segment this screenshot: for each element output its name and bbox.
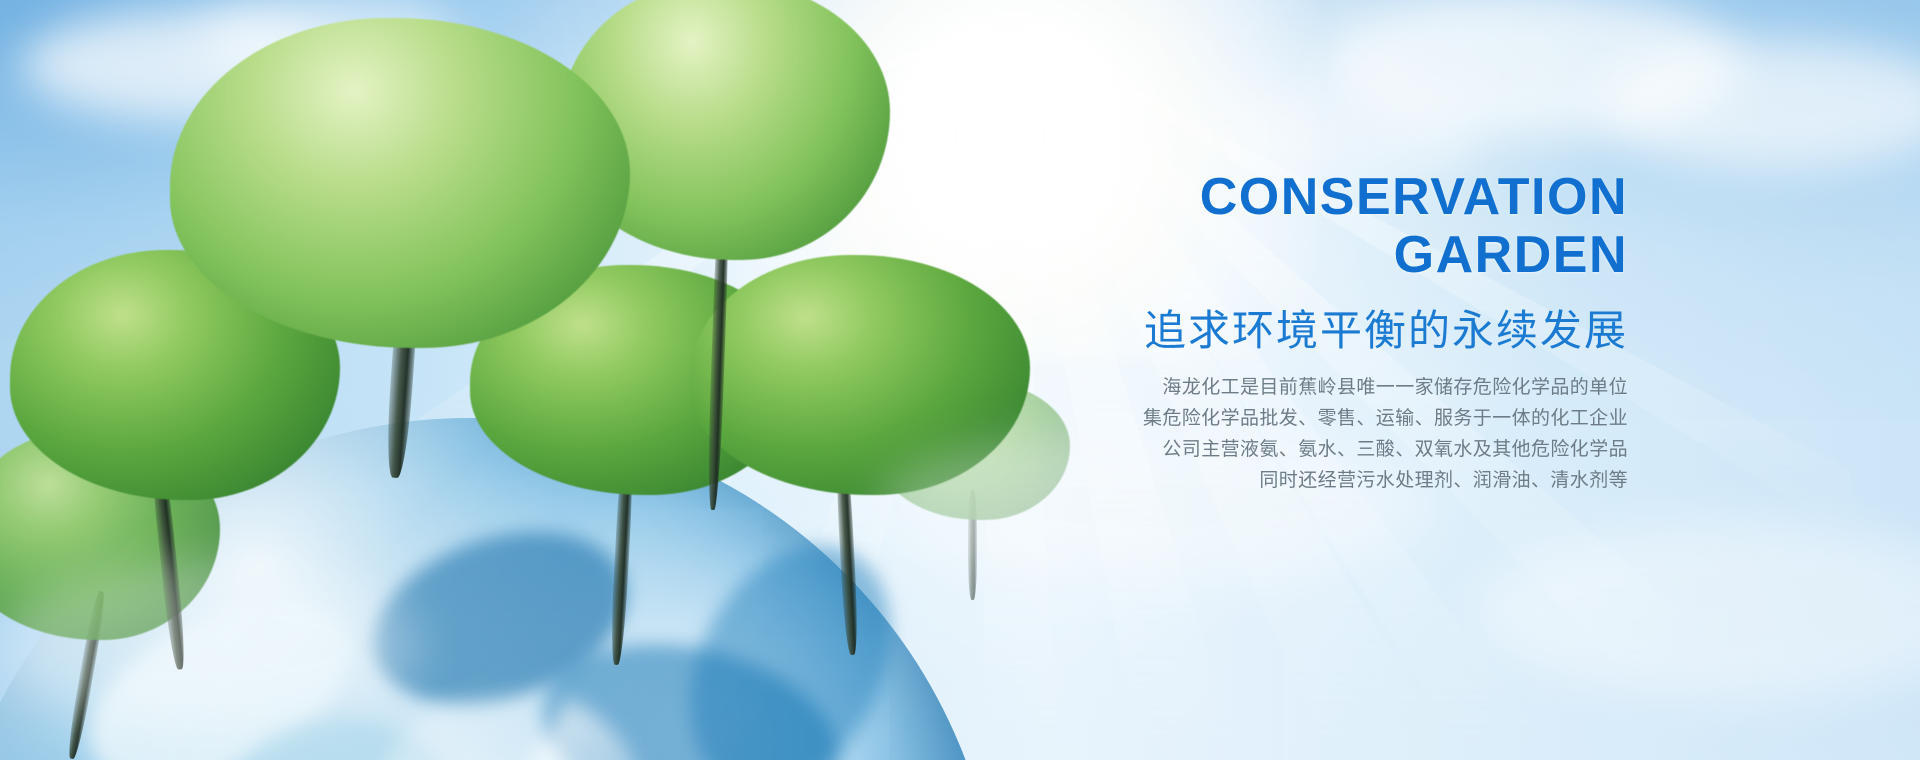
cloud-shape: [0, 560, 420, 730]
description-line: 集危险化学品批发、零售、运输、服务于一体的化工企业: [908, 403, 1628, 434]
description-line: 公司主营液氨、氨水、三酸、双氧水及其他危险化学品: [908, 434, 1628, 465]
headline-line-2: GARDEN: [908, 226, 1628, 284]
description-line: 海龙化工是目前蕉岭县唯一一家储存危险化学品的单位: [908, 372, 1628, 403]
description-line: 同时还经营污水处理剂、润滑油、清水剂等: [908, 465, 1628, 496]
headline-line-1: CONSERVATION: [1200, 168, 1628, 226]
banner-copy: CONSERVATION GARDEN 追求环境平衡的永续发展 海龙化工是目前蕉…: [908, 168, 1628, 496]
banner-tagline: 追求环境平衡的永续发展: [908, 306, 1628, 356]
hero-banner: CONSERVATION GARDEN 追求环境平衡的永续发展 海龙化工是目前蕉…: [0, 0, 1920, 760]
tree-hero: [170, 18, 630, 448]
tree-canopy: [170, 18, 630, 348]
banner-headline: CONSERVATION GARDEN: [908, 168, 1628, 284]
banner-description: 海龙化工是目前蕉岭县唯一一家储存危险化学品的单位 集危险化学品批发、零售、运输、…: [908, 372, 1628, 496]
